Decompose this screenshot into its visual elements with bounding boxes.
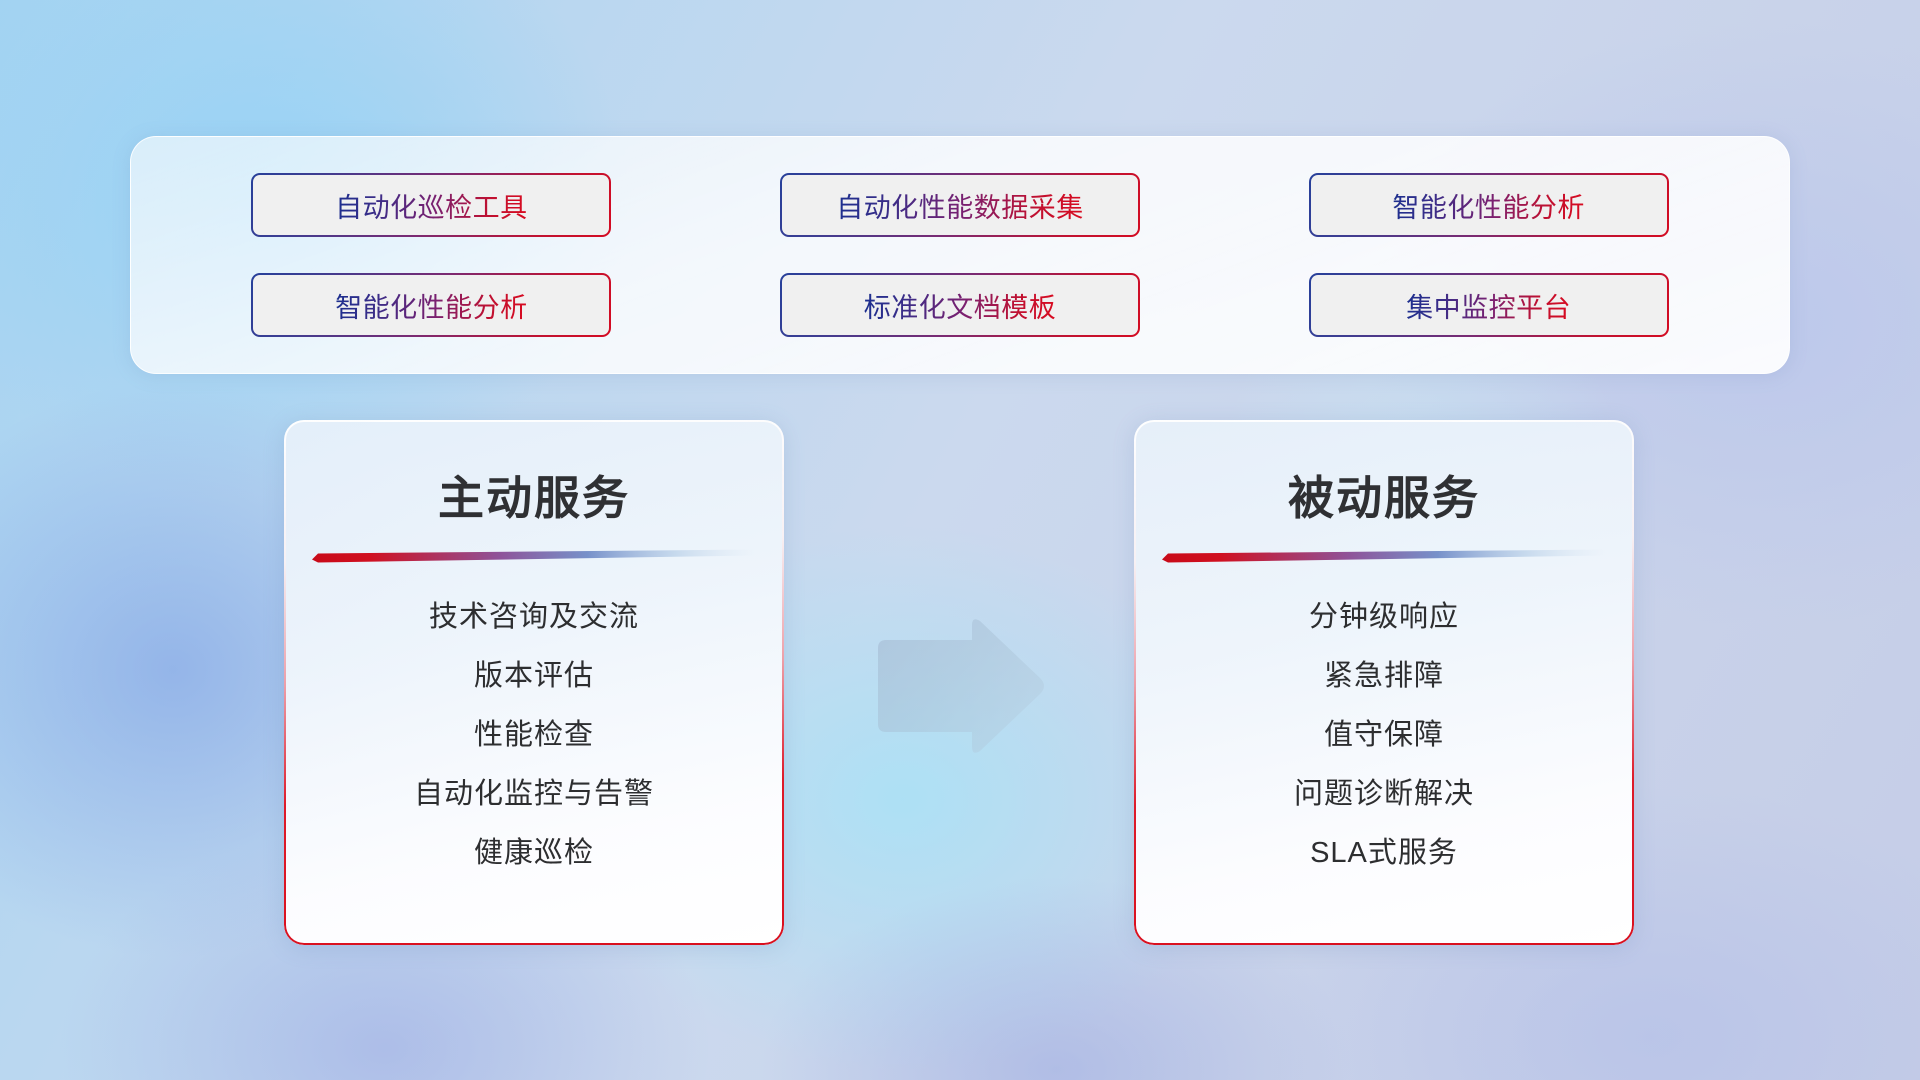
tool-pill-standard-doc-template[interactable]: 标准化文档模板 [780, 273, 1140, 337]
service-card-active[interactable]: 主动服务 技术咨询及交流 版本评估 性能检查 [284, 420, 784, 945]
card-divider-active [312, 548, 756, 564]
card-title-passive: 被动服务 [1134, 462, 1634, 528]
tool-pill-inner: 智能化性能分析 [1311, 175, 1667, 235]
capability-tools-panel: 自动化巡检工具 自动化性能数据采集 智能化性能分析 智能化性能分析 [130, 136, 1790, 374]
tool-pill-label: 标准化文档模板 [864, 286, 1057, 325]
card-title-active: 主动服务 [284, 462, 784, 528]
tool-pill-intelligent-performance-analysis[interactable]: 智能化性能分析 [1309, 173, 1669, 237]
card-list-item: 值守保障 [1324, 706, 1444, 765]
service-card-passive[interactable]: 被动服务 分钟级响应 紧急排障 值守保障 [1134, 420, 1634, 945]
card-list-item: 紧急排障 [1324, 647, 1444, 706]
card-list-item: 分钟级响应 [1309, 588, 1459, 647]
tool-pill-centralized-monitoring-platform[interactable]: 集中监控平台 [1309, 273, 1669, 337]
tools-grid: 自动化巡检工具 自动化性能数据采集 智能化性能分析 智能化性能分析 [131, 137, 1789, 373]
tool-pill-inner: 智能化性能分析 [253, 275, 609, 335]
tool-pill-intelligent-performance-analysis-2[interactable]: 智能化性能分析 [251, 273, 611, 337]
card-list-item: 健康巡检 [474, 824, 594, 883]
card-list-passive: 分钟级响应 紧急排障 值守保障 问题诊断解决 SLA式服务 [1134, 588, 1634, 883]
tool-pill-label: 智能化性能分析 [1392, 186, 1585, 225]
tool-pill-inner: 自动化性能数据采集 [782, 175, 1138, 235]
card-list-item: 问题诊断解决 [1294, 765, 1474, 824]
tool-pill-label: 自动化性能数据采集 [836, 186, 1084, 225]
card-list-item: 版本评估 [474, 647, 594, 706]
arrow-right-icon [872, 616, 1048, 756]
card-divider-passive [1162, 548, 1606, 564]
tool-pill-label: 智能化性能分析 [335, 286, 528, 325]
card-list-item: 性能检查 [474, 706, 594, 765]
tool-pill-inner: 标准化文档模板 [782, 275, 1138, 335]
card-list-item: 技术咨询及交流 [429, 588, 639, 647]
card-list-item: 自动化监控与告警 [414, 765, 654, 824]
tool-pill-label: 自动化巡检工具 [335, 186, 528, 225]
card-list-item: SLA式服务 [1310, 824, 1458, 883]
card-list-active: 技术咨询及交流 版本评估 性能检查 自动化监控与告警 健康巡检 [284, 588, 784, 883]
tool-pill-automation-inspection[interactable]: 自动化巡检工具 [251, 173, 611, 237]
tool-pill-inner: 自动化巡检工具 [253, 175, 609, 235]
diagram-stage: 自动化巡检工具 自动化性能数据采集 智能化性能分析 智能化性能分析 [0, 0, 1920, 1080]
tool-pill-performance-data-collection[interactable]: 自动化性能数据采集 [780, 173, 1140, 237]
tool-pill-label: 集中监控平台 [1406, 286, 1571, 325]
tool-pill-inner: 集中监控平台 [1311, 275, 1667, 335]
